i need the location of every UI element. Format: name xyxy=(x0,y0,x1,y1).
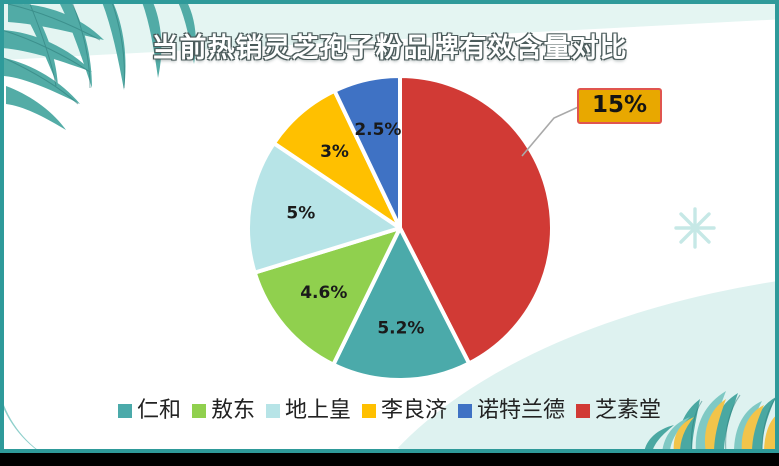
frame-border-right xyxy=(775,0,779,452)
infographic-canvas: 当前热销灵芝孢子粉品牌有效含量对比 5.2%4.6%5%3%2.5% 15% 仁… xyxy=(0,0,779,466)
legend-label: 地上皇 xyxy=(285,400,351,422)
bottom-black-strip xyxy=(0,453,779,466)
pie-slice-label: 3% xyxy=(320,142,349,162)
highlight-callout[interactable]: 15% xyxy=(577,88,662,124)
pie-slice-label: 5% xyxy=(286,203,315,223)
pie-slice-label: 5.2% xyxy=(377,318,424,338)
legend-item[interactable]: 地上皇 xyxy=(266,400,351,422)
frame-border-top xyxy=(0,0,779,4)
legend-swatch xyxy=(576,404,590,418)
legend-label: 诺特兰德 xyxy=(477,400,565,422)
palm-leaves-icon xyxy=(0,0,210,140)
legend-swatch xyxy=(362,404,376,418)
legend-swatch xyxy=(118,404,132,418)
page-title: 当前热销灵芝孢子粉品牌有效含量对比 xyxy=(0,26,779,65)
legend-item[interactable]: 芝素堂 xyxy=(576,400,661,422)
asterisk-icon xyxy=(672,205,718,251)
frame-border-left xyxy=(0,0,4,452)
legend-item[interactable]: 敖东 xyxy=(192,400,255,422)
legend-swatch xyxy=(458,404,472,418)
legend-swatch xyxy=(192,404,206,418)
chart-legend: 仁和敖东地上皇李良济诺特兰德芝素堂 xyxy=(0,400,779,422)
legend-label: 李良济 xyxy=(381,400,447,422)
legend-label: 仁和 xyxy=(137,400,181,422)
pie-slice-label: 4.6% xyxy=(300,283,347,303)
pie-slice-label: 2.5% xyxy=(354,120,401,140)
legend-item[interactable]: 李良济 xyxy=(362,400,447,422)
legend-label: 敖东 xyxy=(211,400,255,422)
legend-item[interactable]: 诺特兰德 xyxy=(458,400,565,422)
callout-value: 15% xyxy=(592,92,647,118)
legend-item[interactable]: 仁和 xyxy=(118,400,181,422)
legend-label: 芝素堂 xyxy=(595,400,661,422)
legend-swatch xyxy=(266,404,280,418)
